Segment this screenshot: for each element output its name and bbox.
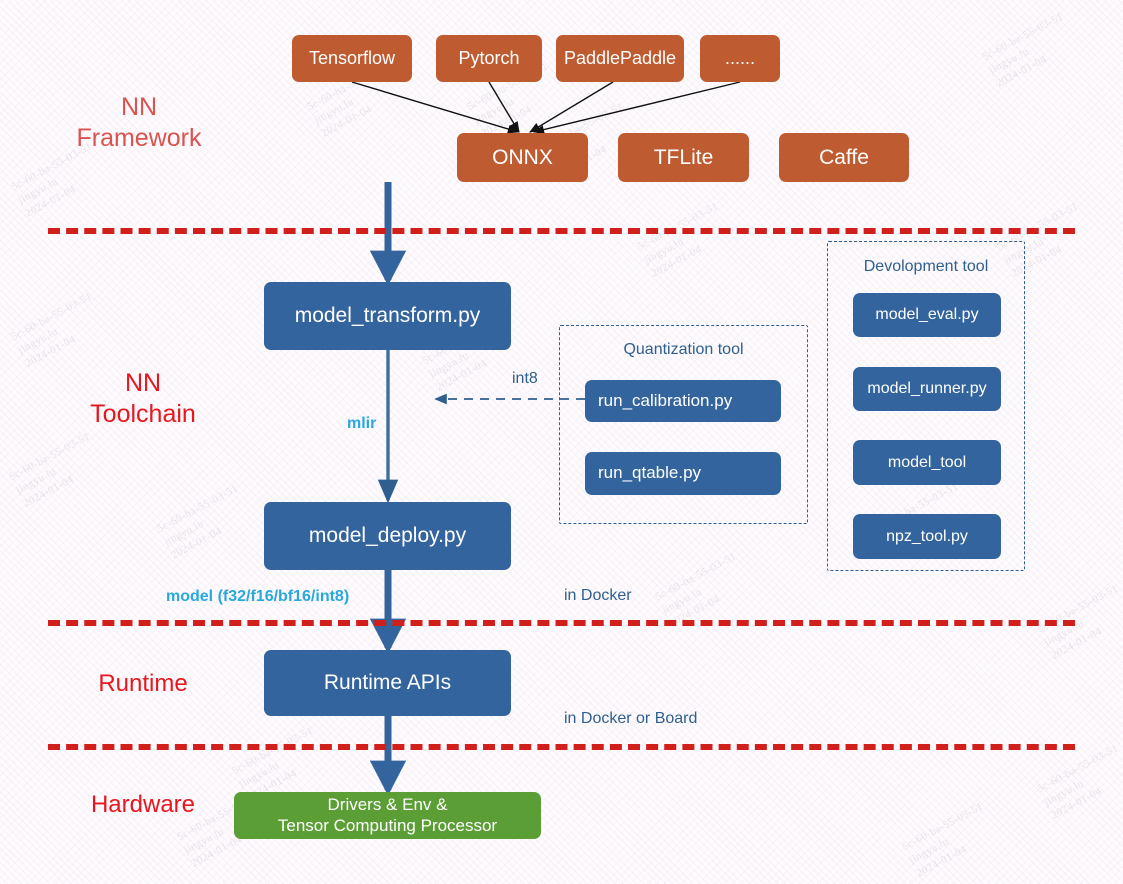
section-label-runtime: Runtime (52, 669, 234, 698)
format-box-tflite[interactable]: TFLite (618, 133, 749, 182)
development-tool-item-model-tool[interactable]: model_tool (853, 440, 1001, 485)
framework-to-onnx-edges (352, 82, 740, 132)
watermark: 5c-60-ba-55-03-51jingyu.lu2024-01-04 (900, 800, 1000, 882)
watermark: 5c-60-ba-55-03-51jingyu.lu2024-01-04 (980, 10, 1080, 92)
development-tool-title: Devolopment tool (827, 258, 1025, 276)
framework-box-ellipsis[interactable]: ...... (700, 35, 780, 82)
format-box-onnx[interactable]: ONNX (457, 133, 588, 182)
pipeline-label: Runtime APIs (324, 670, 451, 695)
quantization-tool-title: Quantization tool (559, 341, 808, 359)
format-box-caffe[interactable]: Caffe (779, 133, 909, 182)
format-label: ONNX (492, 145, 553, 170)
edge-label-int8: int8 (512, 370, 538, 388)
pipeline-box-model-transform[interactable]: model_transform.py (264, 282, 511, 350)
watermark: 5c-60-ba-55-03-51jingyu.lu2024-01-04 (653, 550, 753, 632)
quantization-tool-item-label: run_calibration.py (598, 391, 732, 411)
framework-box-pytorch[interactable]: Pytorch (436, 35, 542, 82)
section-label-nn-framework: NN Framework (48, 92, 230, 153)
development-tool-item-model-eval[interactable]: model_eval.py (853, 293, 1001, 337)
development-tool-item-npz-tool[interactable]: npz_tool.py (853, 514, 1001, 559)
quantization-tool-item-label: run_qtable.py (598, 463, 701, 483)
development-tool-item-label: npz_tool.py (886, 527, 968, 546)
quantization-tool-item-run-qtable[interactable]: run_qtable.py (585, 452, 781, 495)
hardware-box[interactable]: Drivers & Env & Tensor Computing Process… (234, 792, 541, 839)
environment-note-docker: in Docker (564, 587, 632, 605)
section-divider-runtime-hardware (48, 744, 1075, 750)
pipeline-box-model-deploy[interactable]: model_deploy.py (264, 502, 511, 570)
framework-label: Tensorflow (309, 48, 395, 70)
pipeline-label: model_deploy.py (309, 523, 466, 548)
pipeline-label: model_transform.py (295, 303, 481, 328)
format-label: TFLite (654, 145, 714, 170)
section-divider-toolchain-runtime (48, 620, 1075, 626)
section-divider-framework-toolchain (48, 228, 1075, 234)
diagram-canvas: 5c-60-ba-55-03-51jingyu.lu2024-01-04 5c-… (0, 0, 1123, 884)
framework-label: Pytorch (458, 48, 519, 70)
development-tool-item-label: model_eval.py (875, 305, 978, 324)
framework-box-tensorflow[interactable]: Tensorflow (292, 35, 412, 82)
development-tool-item-label: model_runner.py (867, 379, 986, 398)
watermark: 5c-60-ba-55-03-51jingyu.lu2024-01-04 (9, 290, 109, 372)
hardware-line-1: Drivers & Env & (328, 795, 448, 815)
framework-label: PaddlePaddle (564, 48, 676, 70)
framework-box-paddlepaddle[interactable]: PaddlePaddle (556, 35, 684, 82)
edge-label-model-formats: model (f32/f16/bf16/int8) (166, 588, 349, 606)
quantization-tool-item-run-calibration[interactable]: run_calibration.py (585, 380, 781, 422)
pipeline-box-runtime-apis[interactable]: Runtime APIs (264, 650, 511, 716)
edge-label-mlir: mlir (347, 415, 376, 433)
framework-label: ...... (725, 48, 755, 70)
format-label: Caffe (819, 145, 869, 170)
watermark: 5c-60-ba-55-03-51jingyu.lu2024-01-04 (635, 200, 735, 282)
development-tool-item-model-runner[interactable]: model_runner.py (853, 367, 1001, 411)
environment-note-docker-or-board: in Docker or Board (564, 710, 697, 728)
watermark: 5c-60-ba-55-03-51jingyu.lu2024-01-04 (7, 430, 107, 512)
hardware-line-2: Tensor Computing Processor (278, 816, 497, 836)
watermark: 5c-60-ba-55-03-51jingyu.lu2024-01-04 (1035, 742, 1123, 824)
section-label-hardware: Hardware (52, 790, 234, 819)
watermark: 5c-60-ba-55-03-51jingyu.lu2024-01-04 (155, 482, 255, 564)
section-label-nn-toolchain: NN Toolchain (52, 368, 234, 429)
development-tool-item-label: model_tool (888, 453, 966, 472)
